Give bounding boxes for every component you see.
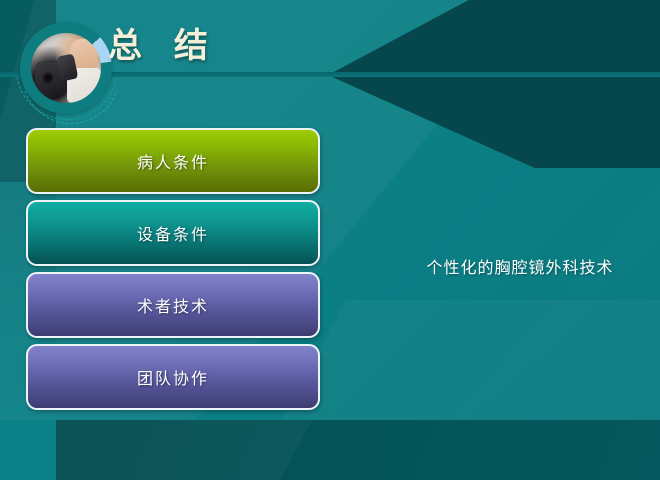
background-wedge-top-right [330, 0, 660, 74]
condition-button-stack: 病人条件 设备条件 术者技术 团队协作 [26, 128, 324, 416]
background-bottom-band [56, 420, 660, 480]
button-label: 病人条件 [137, 149, 209, 173]
slide-caption: 个性化的胸腔镜外科技术 [400, 254, 640, 278]
circular-photo-badge [14, 16, 118, 120]
background-bottom-left-strip [0, 420, 56, 480]
slide-canvas: 总 结 病人条件 设备条件 术者技术 团队协作 个性化的胸腔镜外科技术 [0, 0, 660, 480]
button-patient-conditions[interactable]: 病人条件 [26, 128, 320, 194]
button-label: 团队协作 [137, 365, 209, 389]
button-equipment-conditions[interactable]: 设备条件 [26, 200, 320, 266]
background-wedge-mid-right [330, 76, 660, 168]
background-diagonal-sliver [390, 150, 660, 480]
button-label: 术者技术 [137, 293, 209, 317]
button-team-collaboration[interactable]: 团队协作 [26, 344, 320, 410]
background-bottom-diagonal [56, 420, 660, 480]
button-label: 设备条件 [137, 221, 209, 245]
button-surgeon-technique[interactable]: 术者技术 [26, 272, 320, 338]
slide-title: 总 结 [108, 18, 218, 67]
